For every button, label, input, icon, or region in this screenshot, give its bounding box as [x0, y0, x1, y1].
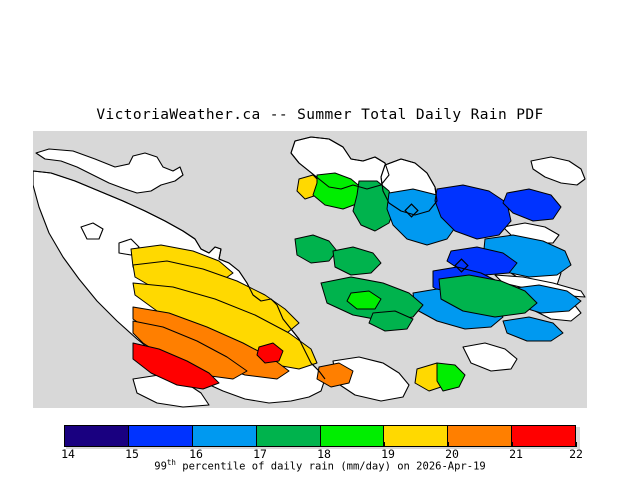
- colorbar-tickmark-19: [384, 442, 385, 447]
- map-panel[interactable]: [33, 131, 587, 408]
- caption-suffix: percentile of daily rain (mm/day) on 202…: [176, 461, 486, 473]
- colorbar-swatch-16-17[interactable]: [193, 426, 257, 446]
- screenshot-root: VictoriaWeather.ca -- Summer Total Daily…: [0, 0, 640, 480]
- page-title: VictoriaWeather.ca -- Summer Total Daily…: [0, 107, 640, 123]
- colorbar-tickmark-20: [448, 442, 449, 447]
- colorbar-tickmark-22: [576, 442, 577, 447]
- colorbar-swatch-17-18[interactable]: [257, 426, 321, 446]
- colorbar-swatch-20-21[interactable]: [448, 426, 512, 446]
- map-svg[interactable]: [33, 131, 587, 408]
- colorbar-swatch-21-22[interactable]: [512, 426, 575, 446]
- caption-prefix: 99: [154, 461, 167, 473]
- colorbar-swatch-19-20[interactable]: [384, 426, 448, 446]
- colorbar-tickmark-16: [192, 442, 193, 447]
- colorbar-tickmark-21: [512, 442, 513, 447]
- colorbar-swatch-15-16[interactable]: [129, 426, 193, 446]
- colorbar-tickmark-14: [64, 442, 65, 447]
- colorbar-caption: 99th percentile of daily rain (mm/day) o…: [0, 458, 640, 473]
- colorbar-swatch-14-15[interactable]: [65, 426, 129, 446]
- colorbar-tickmark-15: [128, 442, 129, 447]
- caption-ordinal: th: [167, 458, 176, 467]
- colorbar-tickmark-17: [256, 442, 257, 447]
- colorbar-tickmark-18: [320, 442, 321, 447]
- colorbar-swatch-18-19[interactable]: [321, 426, 385, 446]
